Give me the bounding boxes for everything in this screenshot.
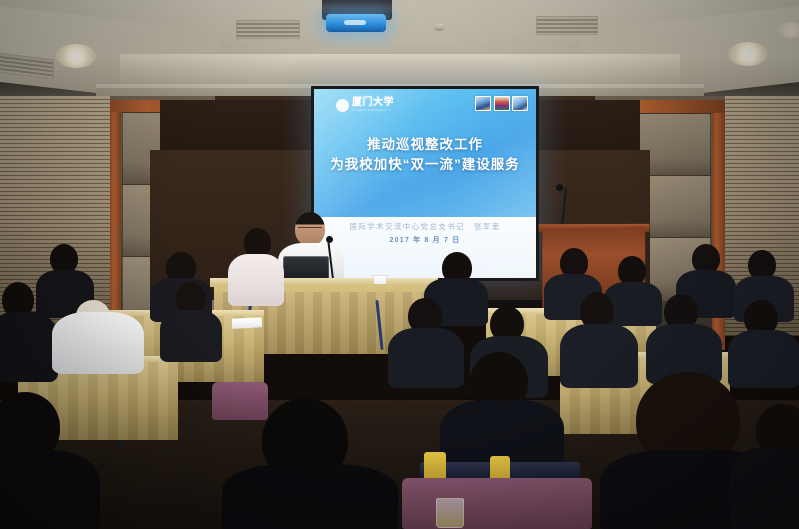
attendee-torso bbox=[730, 448, 799, 529]
downlight-left bbox=[56, 44, 96, 68]
attendee-torso bbox=[0, 312, 58, 382]
projection-screen: 厦门大学 XIAMEN UNIVERSITY 推动巡视整改工作 为我校加快“双一… bbox=[314, 89, 536, 278]
attendee-torso bbox=[560, 324, 638, 388]
ceiling-shadow-gradient bbox=[0, 0, 799, 96]
screen-glare bbox=[314, 89, 536, 278]
chair-foreground-purple bbox=[402, 478, 592, 529]
attendee-torso bbox=[0, 450, 100, 529]
tea-glass bbox=[436, 498, 464, 528]
conference-room-photo: 厦门大学 XIAMEN UNIVERSITY 推动巡视整改工作 为我校加快“双一… bbox=[0, 0, 799, 529]
chair-middle-right bbox=[212, 382, 268, 420]
document-on-table-left bbox=[232, 317, 262, 329]
downlight-right-far bbox=[778, 22, 799, 38]
smoke-detector bbox=[434, 24, 445, 31]
downlight-right bbox=[728, 42, 768, 66]
attendee-torso bbox=[52, 312, 144, 374]
attendee-torso bbox=[388, 328, 464, 388]
attendee-torso bbox=[160, 310, 222, 362]
podium-microphone-head bbox=[556, 184, 563, 191]
projector-lens-glint bbox=[344, 20, 366, 25]
air-vent-center-left bbox=[236, 20, 300, 39]
attendee-torso bbox=[728, 330, 799, 388]
attendee-torso bbox=[228, 254, 284, 306]
attendee-torso bbox=[222, 464, 398, 529]
presenter-glasses bbox=[298, 227, 322, 232]
air-vent-center-right bbox=[536, 16, 598, 35]
